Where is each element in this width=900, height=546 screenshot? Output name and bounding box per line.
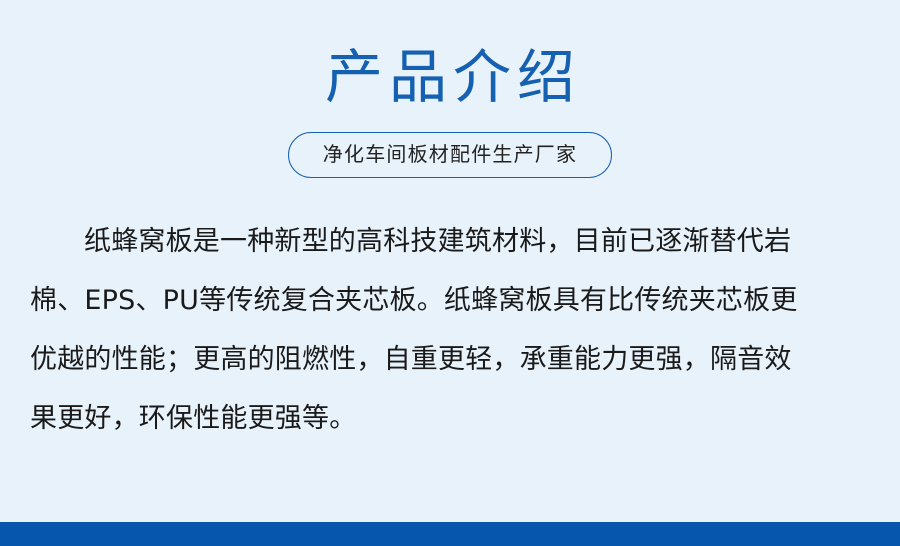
body-paragraph-line: 棉、EPS、PU等传统复合夹芯板。纸蜂窝板具有比传统夹芯板更 — [30, 271, 870, 330]
body-paragraph-line: 果更好，环保性能更强等。 — [30, 389, 870, 448]
subtitle-container: 净化车间板材配件生产厂家 — [0, 132, 900, 178]
product-introduction-page: 产品介绍 净化车间板材配件生产厂家 纸蜂窝板是一种新型的高科技建筑材料，目前已逐… — [0, 0, 900, 546]
subtitle-badge: 净化车间板材配件生产厂家 — [288, 132, 612, 178]
page-header: 产品介绍 净化车间板材配件生产厂家 — [0, 0, 900, 178]
page-title: 产品介绍 — [0, 44, 900, 110]
body-paragraph-line: 纸蜂窝板是一种新型的高科技建筑材料，目前已逐渐替代岩 — [30, 212, 870, 271]
bottom-accent-bar — [0, 522, 900, 546]
body-paragraph-line: 优越的性能；更高的阻燃性，自重更轻，承重能力更强，隔音效 — [30, 330, 870, 389]
body-copy: 纸蜂窝板是一种新型的高科技建筑材料，目前已逐渐替代岩 棉、EPS、PU等传统复合… — [30, 212, 870, 448]
